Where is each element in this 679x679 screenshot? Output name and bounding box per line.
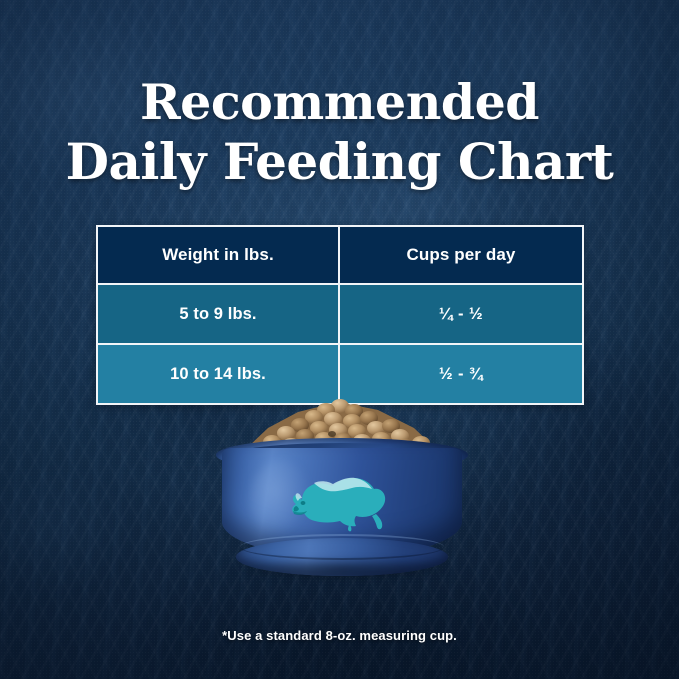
table-header-row: Weight in lbs. Cups per day [98,227,582,283]
table-header-cups: Cups per day [340,227,582,283]
title-line-2: Daily Feeding Chart [0,132,679,192]
dog-food-bowl [206,398,478,593]
bowl-drop-shadow [228,556,456,582]
page-title: Recommended Daily Feeding Chart [0,72,679,192]
footnote-text: *Use a standard 8-oz. measuring cup. [0,628,679,643]
cell-weight-2: 10 to 14 lbs. [98,345,340,403]
table-row: 5 to 9 lbs. ¼ - ½ [98,283,582,343]
cell-cups-2: ½ - ¾ [340,345,582,403]
feeding-table: Weight in lbs. Cups per day 5 to 9 lbs. … [96,225,584,405]
buffalo-icon [284,470,396,532]
title-line-1: Recommended [0,72,679,132]
cell-weight-1: 5 to 9 lbs. [98,285,340,343]
cell-cups-1: ¼ - ½ [340,285,582,343]
feeding-chart-graphic: Recommended Daily Feeding Chart Weight i… [0,0,679,679]
table-header-weight: Weight in lbs. [98,227,340,283]
table-row: 10 to 14 lbs. ½ - ¾ [98,343,582,403]
